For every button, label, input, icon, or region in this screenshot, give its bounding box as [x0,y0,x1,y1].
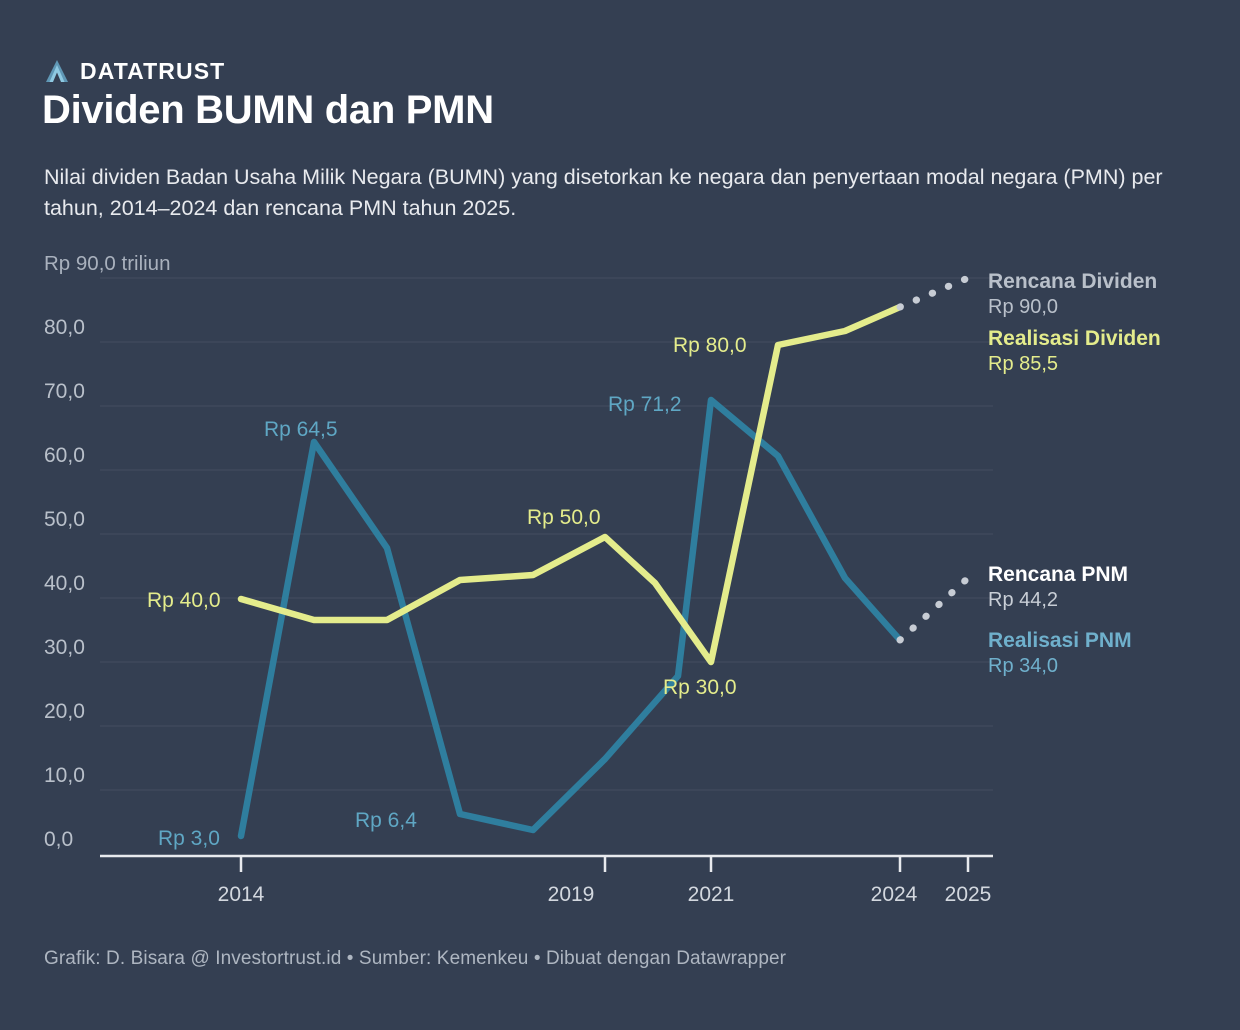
y-tick-60: 60,0 [44,444,85,467]
legend-value-rencana-dividen: Rp 90,0 [988,296,1058,318]
y-tick-10: 10,0 [44,764,85,787]
y-tick-20: 20,0 [44,700,85,723]
chart-page: DATATRUST Dividen BUMN dan PMN Nilai div… [0,0,1240,1030]
y-tick-30: 30,0 [44,636,85,659]
x-tick-2014: 2014 [218,883,265,906]
line-chart-svg: Rp 90,0 triliun 80,0 70,0 60,0 50,0 40,0… [0,0,1240,1030]
legend-label-rencana-dividen: Rencana Dividen [988,270,1157,293]
point-label-dividen-2019: Rp 50,0 [527,506,601,529]
x-tick-2024: 2024 [871,883,918,906]
legend-item-realisasi-dividen: Realisasi Dividen Rp 85,5 [988,327,1161,375]
y-tick-50: 50,0 [44,508,85,531]
point-label-dividen-2021: Rp 30,0 [663,676,737,699]
chart-credit: Grafik: D. Bisara @ Investortrust.id • S… [44,948,786,970]
point-label-dividen-2014: Rp 40,0 [147,589,221,612]
x-axis-labels: 2014 2019 2021 2024 2025 [218,883,992,906]
legend-label-rencana-pnm: Rencana PNM [988,563,1128,586]
y-tick-80: 80,0 [44,316,85,339]
point-label-pnm-2021: Rp 71,2 [608,393,682,416]
legend: Rencana Dividen Rp 90,0 Realisasi Divide… [988,270,1161,677]
y-tick-70: 70,0 [44,380,85,403]
legend-label-realisasi-pnm: Realisasi PNM [988,629,1132,652]
y-tick-0: 0,0 [44,828,73,851]
y-tick-40: 40,0 [44,572,85,595]
x-axis [100,856,993,872]
x-tick-2021: 2021 [688,883,735,906]
gridlines [100,278,993,790]
point-label-pnm-2017: Rp 6,4 [355,809,417,832]
point-label-dividen-2022: Rp 80,0 [673,334,747,357]
legend-item-rencana-pnm: Rencana PNM Rp 44,2 [988,563,1128,611]
series-line-rencana-pnm [900,578,968,640]
chart-plot-area: Rp 90,0 triliun 80,0 70,0 60,0 50,0 40,0… [0,0,1240,1030]
series-line-rencana-dividen [900,278,968,307]
legend-value-realisasi-dividen: Rp 85,5 [988,353,1058,375]
legend-item-rencana-dividen: Rencana Dividen Rp 90,0 [988,270,1157,318]
point-label-pnm-2015: Rp 64,5 [264,418,338,441]
y-axis-unit-label: Rp 90,0 triliun [44,252,170,275]
x-tick-2019: 2019 [548,883,595,906]
legend-value-rencana-pnm: Rp 44,2 [988,589,1058,611]
legend-item-realisasi-pnm: Realisasi PNM Rp 34,0 [988,629,1132,677]
legend-value-realisasi-pnm: Rp 34,0 [988,655,1058,677]
legend-label-realisasi-dividen: Realisasi Dividen [988,327,1161,350]
x-tick-2025: 2025 [945,883,992,906]
point-label-pnm-2014: Rp 3,0 [158,827,220,850]
